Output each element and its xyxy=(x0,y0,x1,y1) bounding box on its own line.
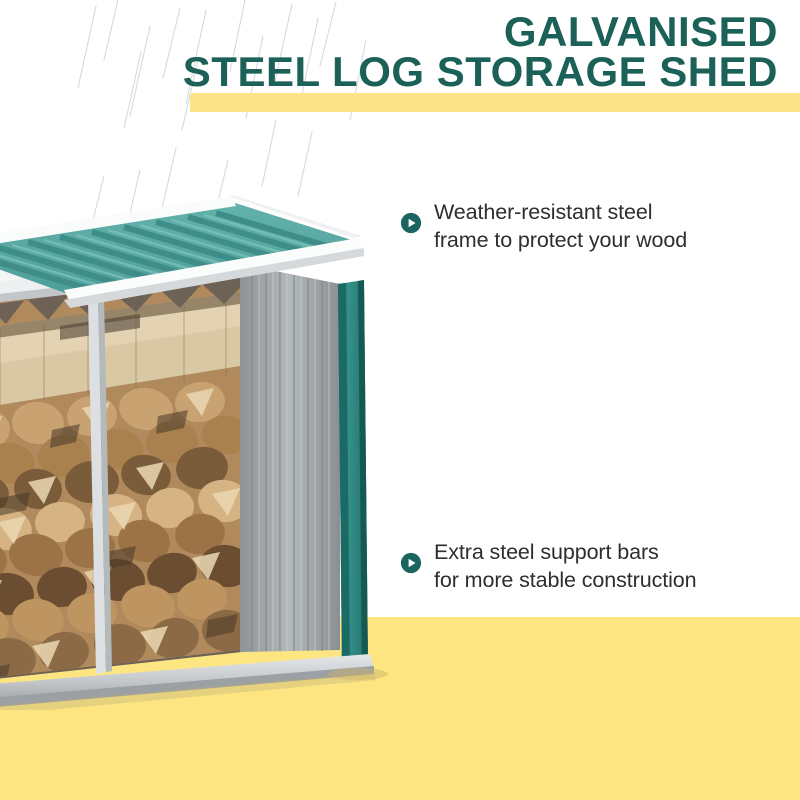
page-title: GALVANISED STEEL LOG STORAGE SHED xyxy=(138,12,778,93)
product-banner: GALVANISED STEEL LOG STORAGE SHED Weathe… xyxy=(0,0,800,800)
headline-highlight-bar xyxy=(190,93,800,112)
corner-post-right xyxy=(338,280,368,670)
play-circle-icon xyxy=(400,212,422,234)
feature-item-2: Extra steel support bars for more stable… xyxy=(400,538,770,595)
feature-item-1: Weather-resistant steel frame to protect… xyxy=(400,198,770,255)
feature-text-1: Weather-resistant steel frame to protect… xyxy=(434,198,687,255)
play-circle-icon xyxy=(400,552,422,574)
headline-line-2: STEEL LOG STORAGE SHED xyxy=(138,52,778,92)
firewood-stack xyxy=(0,250,260,700)
headline-line-1: GALVANISED xyxy=(138,12,778,52)
feature-text-2: Extra steel support bars for more stable… xyxy=(434,538,697,595)
product-image-shed xyxy=(0,180,440,710)
